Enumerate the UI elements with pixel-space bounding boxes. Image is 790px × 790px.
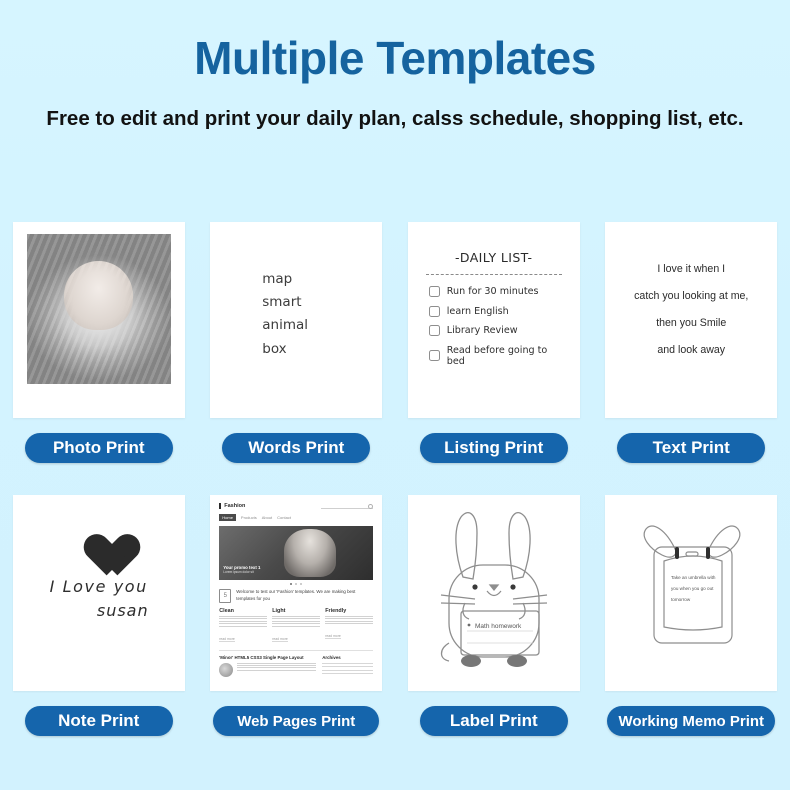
template-card-note-print[interactable]: I Love you susan Note Print xyxy=(0,495,198,736)
bunny-memo-icon: Take an umbrella with you when you go ou… xyxy=(616,503,766,683)
site-logo: Fashion xyxy=(219,503,245,509)
feature-column: Light read more xyxy=(272,608,320,645)
page-root: Multiple Templates Free to edit and prin… xyxy=(0,0,790,790)
web-pages-print-button[interactable]: Web Pages Print xyxy=(213,706,379,736)
checkbox-icon[interactable] xyxy=(429,306,440,317)
word-item: box xyxy=(262,338,382,361)
feature-body xyxy=(272,616,320,627)
label-note-text: Math homework xyxy=(475,623,522,630)
feature-column: Friendly read more xyxy=(325,608,373,645)
webpage-nav: Home Products About Contact xyxy=(219,514,373,521)
page-subtitle: Free to edit and print your daily plan, … xyxy=(45,104,745,135)
template-card-working-memo-print[interactable]: Take an umbrella with you when you go ou… xyxy=(593,495,790,736)
footer-article-title: 'Minor' HTML5 CSS3 Single Page Layout xyxy=(219,655,316,660)
template-card-photo-print[interactable]: Photo Print xyxy=(0,222,198,463)
checklist-item[interactable]: Library Review xyxy=(424,325,564,336)
feature-title: Friendly xyxy=(325,608,373,614)
feature-body xyxy=(325,616,373,624)
template-card-listing-print[interactable]: -DAILY LIST- Run for 30 minutes learn En… xyxy=(395,222,593,463)
template-card-label-print[interactable]: Math homework Label Print xyxy=(395,495,593,736)
checklist-item[interactable]: Read before going to bed xyxy=(424,345,564,367)
text-paragraph: I love it when I catch you looking at me… xyxy=(605,222,777,364)
feature-column: Clean read more xyxy=(219,608,267,645)
photo-frame xyxy=(13,222,185,418)
html5-badge-icon: 5 xyxy=(219,589,231,603)
checkbox-icon[interactable] xyxy=(429,350,440,361)
memo-illustration: Take an umbrella with you when you go ou… xyxy=(605,495,777,691)
bunny-foot-left xyxy=(461,655,481,667)
bunny-foot-right xyxy=(507,655,527,667)
read-more-link[interactable]: read more xyxy=(219,637,234,642)
webpage-hero-image: Your promo text 1 Lorem ipsum dolor sit xyxy=(219,526,373,580)
text-line: I love it when I xyxy=(617,256,765,283)
text-line: catch you looking at me, xyxy=(617,283,765,310)
template-grid: Photo Print map smart animal box Words P… xyxy=(0,222,790,736)
search-icon[interactable] xyxy=(321,503,373,509)
hero-subcaption-text: Lorem ipsum dolor sit xyxy=(223,570,260,574)
preview-label-print[interactable]: Math homework xyxy=(408,495,580,691)
carousel-dots[interactable] xyxy=(219,583,373,585)
preview-web-pages-print[interactable]: Fashion Home Products About Contact Your… xyxy=(210,495,382,691)
words-print-button[interactable]: Words Print xyxy=(222,433,370,463)
word-item: animal xyxy=(262,314,382,337)
listing-print-button[interactable]: Listing Print xyxy=(420,433,568,463)
webpage-footer: 'Minor' HTML5 CSS3 Single Page Layout Ar… xyxy=(219,650,373,677)
text-print-button[interactable]: Text Print xyxy=(617,433,765,463)
daily-list-title: -DAILY LIST- xyxy=(424,250,564,265)
preview-note-print[interactable]: I Love you susan xyxy=(13,495,185,691)
checklist-item[interactable]: learn English xyxy=(424,306,564,317)
hero-caption: Your promo text 1 Lorem ipsum dolor sit xyxy=(223,565,260,574)
footer-article: 'Minor' HTML5 CSS3 Single Page Layout xyxy=(219,655,316,677)
working-memo-print-button[interactable]: Working Memo Print xyxy=(607,706,775,736)
girl-photo-image xyxy=(27,234,171,384)
webpage-header: Fashion xyxy=(219,503,373,509)
nav-item[interactable]: Home xyxy=(219,514,236,521)
read-more-link[interactable]: read more xyxy=(325,634,340,639)
page-title: Multiple Templates xyxy=(0,34,790,82)
article-thumbnail xyxy=(219,663,233,677)
bunny-label-illustration: Math homework xyxy=(408,495,580,691)
checklist-item-label: Library Review xyxy=(447,325,518,336)
daily-list: -DAILY LIST- Run for 30 minutes learn En… xyxy=(408,222,580,367)
preview-working-memo-print[interactable]: Take an umbrella with you when you go ou… xyxy=(605,495,777,691)
webpage-mock: Fashion Home Products About Contact Your… xyxy=(210,495,382,685)
checklist-item[interactable]: Run for 30 minutes xyxy=(424,286,564,297)
nav-item[interactable]: About xyxy=(262,515,272,520)
word-list: map smart animal box xyxy=(210,222,382,361)
template-card-words-print[interactable]: map smart animal box Words Print xyxy=(198,222,396,463)
note-print-button[interactable]: Note Print xyxy=(25,706,173,736)
template-card-web-pages-print[interactable]: Fashion Home Products About Contact Your… xyxy=(198,495,396,736)
text-line: then you Smile xyxy=(617,310,765,337)
webpage-feature-columns: Clean read more Light read more Friendly xyxy=(219,608,373,645)
bunny-eye-right xyxy=(510,584,515,589)
preview-listing-print[interactable]: -DAILY LIST- Run for 30 minutes learn En… xyxy=(408,222,580,418)
nav-item[interactable]: Contact xyxy=(277,515,291,520)
memo-line-1: Take an umbrella with xyxy=(671,575,716,580)
clip-right xyxy=(706,547,710,559)
webpage-intro: 5 Welcome to test our 'Fashion' template… xyxy=(219,589,373,603)
checkbox-icon[interactable] xyxy=(429,286,440,297)
preview-photo-print[interactable] xyxy=(13,222,185,418)
hero-header: Multiple Templates Free to edit and prin… xyxy=(0,0,790,135)
dashed-divider xyxy=(426,274,562,275)
read-more-link[interactable]: read more xyxy=(272,637,287,642)
heart-icon xyxy=(75,517,123,561)
word-item: map xyxy=(262,268,382,291)
article-body xyxy=(237,663,316,671)
checklist-item-label: Run for 30 minutes xyxy=(447,286,539,297)
handwritten-note: I Love you susan xyxy=(13,495,185,691)
bunny-eye-left xyxy=(472,584,477,589)
photo-print-button[interactable]: Photo Print xyxy=(25,433,173,463)
feature-title: Light xyxy=(272,608,320,614)
bunny-icon: Math homework xyxy=(419,503,569,683)
template-card-text-print[interactable]: I love it when I catch you looking at me… xyxy=(593,222,790,463)
text-line: and look away xyxy=(617,337,765,364)
clip-left xyxy=(675,547,679,559)
note-line-2: susan xyxy=(61,601,185,620)
checkbox-icon[interactable] xyxy=(429,325,440,336)
preview-text-print[interactable]: I love it when I catch you looking at me… xyxy=(605,222,777,418)
word-item: smart xyxy=(262,291,382,314)
memo-line-3: tomorrow xyxy=(671,597,691,602)
memo-line-2: you when you go out xyxy=(671,586,714,591)
feature-body xyxy=(219,616,267,627)
note-line-1: I Love you xyxy=(13,577,185,596)
nav-item[interactable]: Products xyxy=(241,515,257,520)
checklist-item-label: Read before going to bed xyxy=(447,345,564,367)
feature-title: Clean xyxy=(219,608,267,614)
label-print-button[interactable]: Label Print xyxy=(420,706,568,736)
archives-title: Archives xyxy=(322,655,373,660)
checklist-item-label: learn English xyxy=(447,306,509,317)
preview-words-print[interactable]: map smart animal box xyxy=(210,222,382,418)
intro-text: Welcome to test our 'Fashion' templates.… xyxy=(236,589,373,602)
footer-archives: Archives xyxy=(322,655,373,677)
